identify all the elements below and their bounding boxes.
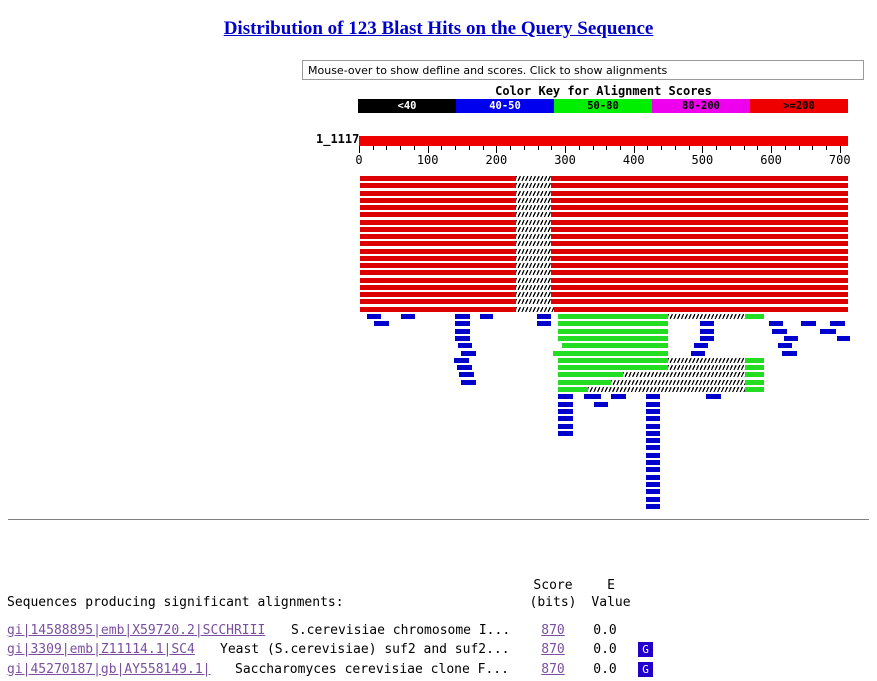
color-key-bin-1: 40-50 bbox=[456, 99, 554, 113]
hit-segment[interactable] bbox=[551, 205, 848, 210]
axis-minor-tick bbox=[785, 146, 786, 150]
axis-tick-label: 600 bbox=[760, 153, 782, 167]
hit-segment[interactable] bbox=[820, 329, 835, 334]
mouseover-hint-text: Mouse-over to show defline and scores. C… bbox=[308, 64, 667, 77]
axis-tick-label: 700 bbox=[829, 153, 851, 167]
hit-connector bbox=[516, 285, 552, 290]
hit-segment[interactable] bbox=[745, 380, 764, 385]
axis-minor-tick bbox=[441, 146, 442, 150]
axis-minor-tick bbox=[826, 146, 827, 150]
result-description: S.cerevisiae chromosome I... bbox=[291, 623, 510, 638]
page-title[interactable]: Distribution of 123 Blast Hits on the Qu… bbox=[0, 18, 877, 40]
hit-segment[interactable] bbox=[551, 241, 848, 246]
hit-segment[interactable] bbox=[558, 321, 668, 326]
hit-connector bbox=[516, 198, 552, 203]
hit-segment[interactable] bbox=[360, 270, 515, 275]
hit-connector bbox=[668, 365, 745, 370]
hit-segment[interactable] bbox=[646, 475, 661, 480]
hit-segment[interactable] bbox=[646, 445, 661, 450]
result-score-link[interactable]: 870 bbox=[535, 662, 571, 677]
axis-major-tick bbox=[496, 146, 497, 153]
hit-segment[interactable] bbox=[537, 314, 551, 319]
hit-connector bbox=[623, 372, 744, 377]
axis-minor-tick bbox=[593, 146, 594, 150]
hit-segment[interactable] bbox=[837, 336, 851, 341]
axis-minor-tick bbox=[400, 146, 401, 150]
hit-connector bbox=[516, 191, 552, 196]
hit-segment[interactable] bbox=[594, 402, 609, 407]
hit-segment[interactable] bbox=[772, 329, 787, 334]
hit-segment[interactable] bbox=[784, 336, 799, 341]
hit-segment[interactable] bbox=[700, 321, 715, 326]
hit-segment[interactable] bbox=[646, 394, 661, 399]
hit-segment[interactable] bbox=[551, 292, 848, 297]
hit-segment[interactable] bbox=[562, 343, 667, 348]
axis-minor-tick bbox=[510, 146, 511, 150]
hit-connector bbox=[516, 205, 552, 210]
hit-connector bbox=[516, 227, 552, 232]
hit-connector bbox=[611, 380, 745, 385]
hit-segment[interactable] bbox=[458, 343, 473, 348]
results-header-score-line1: Score bbox=[527, 578, 579, 593]
axis-major-tick bbox=[634, 146, 635, 153]
hit-segment[interactable] bbox=[459, 372, 474, 377]
hit-segment[interactable] bbox=[461, 380, 476, 385]
axis-minor-tick bbox=[647, 146, 648, 150]
hit-segment[interactable] bbox=[646, 416, 661, 421]
hit-segment[interactable] bbox=[374, 321, 389, 326]
hit-connector bbox=[516, 278, 552, 283]
hit-segment[interactable] bbox=[537, 321, 551, 326]
hit-segment[interactable] bbox=[700, 336, 715, 341]
hit-segment[interactable] bbox=[558, 409, 573, 414]
hit-segment[interactable] bbox=[360, 256, 515, 261]
axis-minor-tick bbox=[675, 146, 676, 150]
hit-segment[interactable] bbox=[646, 424, 661, 429]
color-key-bin-0: <40 bbox=[358, 99, 456, 113]
blast-hits-graphic[interactable] bbox=[359, 176, 848, 511]
axis-minor-tick bbox=[620, 146, 621, 150]
hit-segment[interactable] bbox=[454, 358, 469, 363]
hit-segment[interactable] bbox=[551, 249, 848, 254]
axis-minor-tick bbox=[606, 146, 607, 150]
hit-segment[interactable] bbox=[551, 299, 848, 304]
query-sequence-label: 1_1117 bbox=[316, 132, 359, 146]
hit-connector bbox=[516, 307, 554, 312]
result-evalue: 0.0 bbox=[585, 642, 625, 657]
hit-connector bbox=[588, 387, 745, 392]
hit-segment[interactable] bbox=[558, 329, 668, 334]
hit-segment[interactable] bbox=[646, 402, 661, 407]
result-row: gi|14588895|emb|X59720.2|SCCHRIIIS.cerev… bbox=[7, 623, 667, 642]
hit-segment[interactable] bbox=[551, 227, 848, 232]
axis-minor-tick bbox=[524, 146, 525, 150]
hit-connector bbox=[516, 183, 552, 188]
hit-segment[interactable] bbox=[611, 394, 626, 399]
axis-minor-tick bbox=[483, 146, 484, 150]
result-sequence-id-link[interactable]: gi|3309|emb|Z11114.1|SC4 bbox=[7, 642, 195, 657]
hit-segment[interactable] bbox=[558, 424, 573, 429]
hit-segment[interactable] bbox=[551, 212, 848, 217]
result-sequence-id-link[interactable]: gi|14588895|emb|X59720.2|SCCHRIII bbox=[7, 623, 265, 638]
hit-segment[interactable] bbox=[706, 394, 721, 399]
hit-segment[interactable] bbox=[551, 191, 848, 196]
hit-connector bbox=[516, 220, 552, 225]
result-sequence-id-link[interactable]: gi|45270187|gb|AY558149.1| bbox=[7, 662, 211, 677]
axis-major-tick bbox=[428, 146, 429, 153]
hit-segment[interactable] bbox=[646, 467, 661, 472]
hit-segment[interactable] bbox=[700, 329, 715, 334]
hit-segment[interactable] bbox=[360, 183, 515, 188]
results-table: Sequences producing significant alignmen… bbox=[7, 578, 23, 668]
hit-segment[interactable] bbox=[553, 351, 668, 356]
hit-connector bbox=[516, 263, 552, 268]
hit-segment[interactable] bbox=[558, 365, 668, 370]
hit-segment[interactable] bbox=[455, 321, 470, 326]
hit-segment[interactable] bbox=[558, 431, 573, 436]
axis-major-tick bbox=[565, 146, 566, 153]
hit-segment[interactable] bbox=[551, 270, 848, 275]
hit-segment[interactable] bbox=[360, 249, 515, 254]
axis-major-tick bbox=[840, 146, 841, 153]
color-key-bin-2: 50-80 bbox=[554, 99, 652, 113]
hit-segment[interactable] bbox=[745, 314, 764, 319]
hit-segment[interactable] bbox=[360, 278, 515, 283]
hit-segment[interactable] bbox=[360, 285, 515, 290]
hit-connector bbox=[516, 176, 552, 181]
hit-segment[interactable] bbox=[745, 358, 764, 363]
hit-segment[interactable] bbox=[360, 241, 515, 246]
hit-segment[interactable] bbox=[694, 343, 709, 348]
hit-segment[interactable] bbox=[646, 460, 661, 465]
hit-segment[interactable] bbox=[830, 321, 845, 326]
hit-segment[interactable] bbox=[401, 314, 415, 319]
hit-connector bbox=[516, 292, 552, 297]
hit-segment[interactable] bbox=[551, 176, 848, 181]
axis-minor-tick bbox=[757, 146, 758, 150]
hit-segment[interactable] bbox=[360, 263, 515, 268]
hit-segment[interactable] bbox=[558, 372, 624, 377]
hit-segment[interactable] bbox=[360, 176, 515, 181]
hit-segment[interactable] bbox=[480, 314, 493, 319]
axis-minor-tick bbox=[799, 146, 800, 150]
hit-segment[interactable] bbox=[360, 234, 515, 239]
axis-minor-tick bbox=[661, 146, 662, 150]
hit-segment[interactable] bbox=[558, 380, 611, 385]
hit-segment[interactable] bbox=[457, 365, 472, 370]
axis-tick-label: 300 bbox=[554, 153, 576, 167]
hit-segment[interactable] bbox=[360, 191, 515, 196]
axis-minor-tick bbox=[716, 146, 717, 150]
hit-segment[interactable] bbox=[554, 307, 848, 312]
hit-segment[interactable] bbox=[646, 453, 661, 458]
hit-segment[interactable] bbox=[360, 227, 515, 232]
hit-segment[interactable] bbox=[558, 314, 668, 319]
hit-segment[interactable] bbox=[745, 372, 764, 377]
hit-segment[interactable] bbox=[691, 351, 706, 356]
result-score-link[interactable]: 870 bbox=[535, 642, 571, 657]
hit-segment[interactable] bbox=[769, 321, 784, 326]
hit-segment[interactable] bbox=[551, 256, 848, 261]
hit-segment[interactable] bbox=[551, 220, 848, 225]
result-genome-badge[interactable]: G bbox=[638, 662, 653, 677]
axis-minor-tick bbox=[551, 146, 552, 150]
color-key-bin-3: 80-200 bbox=[652, 99, 750, 113]
query-position-axis: 0100200300400500600700 bbox=[359, 146, 848, 168]
result-description: Saccharomyces cerevisiae clone F... bbox=[235, 662, 509, 677]
hit-segment[interactable] bbox=[745, 387, 764, 392]
hit-segment[interactable] bbox=[551, 183, 848, 188]
hit-segment[interactable] bbox=[551, 285, 848, 290]
axis-major-tick bbox=[359, 146, 360, 153]
hit-segment[interactable] bbox=[461, 351, 476, 356]
hit-segment[interactable] bbox=[558, 416, 573, 421]
hit-segment[interactable] bbox=[360, 307, 515, 312]
hit-segment[interactable] bbox=[646, 409, 661, 414]
axis-minor-tick bbox=[386, 146, 387, 150]
axis-minor-tick bbox=[538, 146, 539, 150]
hit-segment[interactable] bbox=[646, 438, 661, 443]
hit-segment[interactable] bbox=[584, 394, 602, 399]
hit-segment[interactable] bbox=[646, 504, 661, 509]
result-evalue: 0.0 bbox=[585, 623, 625, 638]
result-score-link[interactable]: 870 bbox=[535, 623, 571, 638]
results-header-score-line2: (bits) bbox=[527, 595, 579, 610]
result-description: Yeast (S.cerevisiae) suf2 and suf2... bbox=[220, 642, 510, 657]
axis-minor-tick bbox=[414, 146, 415, 150]
hit-segment[interactable] bbox=[360, 220, 515, 225]
hit-segment[interactable] bbox=[646, 431, 661, 436]
hit-segment[interactable] bbox=[646, 489, 661, 494]
hit-connector bbox=[516, 234, 552, 239]
hit-connector bbox=[668, 314, 745, 319]
results-header-description: Sequences producing significant alignmen… bbox=[7, 595, 344, 610]
query-sequence-bar[interactable] bbox=[359, 136, 848, 146]
hit-connector bbox=[516, 241, 552, 246]
axis-tick-label: 400 bbox=[623, 153, 645, 167]
color-key-bin-4: >=200 bbox=[750, 99, 848, 113]
hit-segment[interactable] bbox=[782, 351, 797, 356]
hit-segment[interactable] bbox=[360, 205, 515, 210]
hit-segment[interactable] bbox=[551, 263, 848, 268]
axis-minor-tick bbox=[812, 146, 813, 150]
hit-segment[interactable] bbox=[360, 212, 515, 217]
axis-tick-label: 500 bbox=[692, 153, 714, 167]
hit-segment[interactable] bbox=[558, 336, 668, 341]
axis-major-tick bbox=[702, 146, 703, 153]
axis-minor-tick bbox=[579, 146, 580, 150]
hit-connector bbox=[516, 249, 552, 254]
color-key-title: Color Key for Alignment Scores bbox=[359, 84, 848, 98]
section-divider bbox=[8, 519, 869, 520]
axis-minor-tick bbox=[689, 146, 690, 150]
hit-segment[interactable] bbox=[551, 278, 848, 283]
hit-segment[interactable] bbox=[646, 482, 661, 487]
axis-major-tick bbox=[771, 146, 772, 153]
hit-connector bbox=[516, 212, 552, 217]
hit-segment[interactable] bbox=[558, 358, 668, 363]
hit-connector bbox=[516, 299, 552, 304]
hit-connector bbox=[516, 256, 552, 261]
mouseover-hint-box: Mouse-over to show defline and scores. C… bbox=[302, 60, 864, 80]
hit-segment[interactable] bbox=[455, 329, 470, 334]
hit-connector bbox=[668, 358, 745, 363]
result-row: gi|3309|emb|Z11114.1|SC4Yeast (S.cerevis… bbox=[7, 642, 667, 661]
results-header-evalue-line2: Value bbox=[587, 595, 635, 610]
hit-segment[interactable] bbox=[745, 365, 764, 370]
axis-minor-tick bbox=[744, 146, 745, 150]
axis-tick-label: 0 bbox=[355, 153, 362, 167]
hit-segment[interactable] bbox=[360, 292, 515, 297]
hit-segment[interactable] bbox=[455, 314, 470, 319]
hit-segment[interactable] bbox=[558, 387, 589, 392]
result-genome-badge[interactable]: G bbox=[638, 642, 653, 657]
hit-segment[interactable] bbox=[455, 336, 470, 341]
axis-minor-tick bbox=[469, 146, 470, 150]
hit-segment[interactable] bbox=[367, 314, 381, 319]
results-header-evalue-line1: E bbox=[587, 578, 635, 593]
hit-segment[interactable] bbox=[360, 198, 515, 203]
axis-minor-tick bbox=[373, 146, 374, 150]
hit-segment[interactable] bbox=[646, 497, 661, 502]
hit-segment[interactable] bbox=[558, 394, 573, 399]
result-evalue: 0.0 bbox=[585, 662, 625, 677]
axis-minor-tick bbox=[730, 146, 731, 150]
hit-segment[interactable] bbox=[778, 343, 793, 348]
hit-segment[interactable] bbox=[551, 198, 848, 203]
hit-segment[interactable] bbox=[551, 234, 848, 239]
hit-connector bbox=[516, 270, 552, 275]
axis-minor-tick bbox=[455, 146, 456, 150]
hit-segment[interactable] bbox=[360, 299, 515, 304]
color-key-bar: <4040-5050-8080-200>=200 bbox=[358, 99, 848, 113]
hit-segment[interactable] bbox=[558, 402, 573, 407]
axis-tick-label: 100 bbox=[417, 153, 439, 167]
axis-tick-label: 200 bbox=[486, 153, 508, 167]
hit-segment[interactable] bbox=[801, 321, 816, 326]
